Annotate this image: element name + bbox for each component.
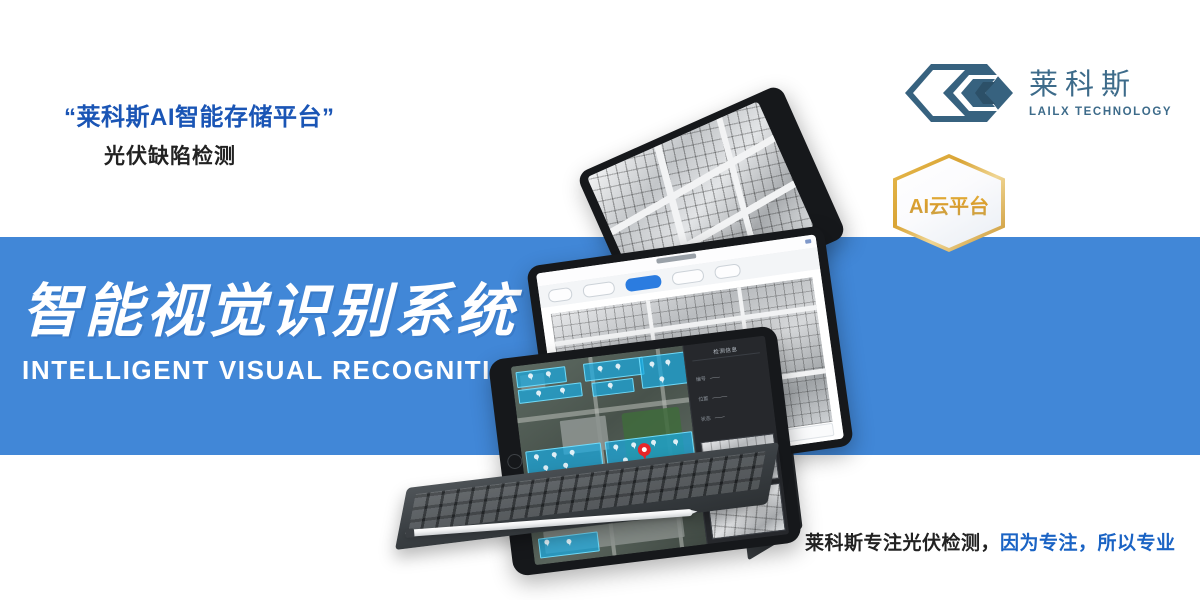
map-marker bbox=[528, 373, 534, 381]
map-marker bbox=[560, 387, 566, 395]
sidebar-row: 位置 ——— bbox=[698, 388, 764, 403]
sidebar-row-value: —— bbox=[714, 414, 725, 421]
map-marker bbox=[665, 359, 671, 367]
map-marker bbox=[615, 363, 621, 371]
sidebar-row: 编号 —— bbox=[696, 368, 762, 383]
map-marker bbox=[631, 442, 637, 450]
brand-text: 莱科斯 LAILX TECHNOLOGY bbox=[1029, 68, 1172, 118]
tagline-part-blue: 因为专注，所以专业 bbox=[1000, 533, 1176, 554]
map-marker bbox=[649, 361, 655, 369]
map-marker bbox=[546, 371, 552, 379]
map-marker bbox=[597, 366, 603, 374]
map-marker bbox=[607, 382, 613, 390]
sidebar-row-key: 编号 bbox=[696, 375, 707, 383]
toolbar-button-5[interactable] bbox=[714, 263, 742, 279]
sidebar-row-value: —— bbox=[710, 374, 721, 381]
sidebar-row-key: 位置 bbox=[698, 395, 709, 403]
map-marker bbox=[659, 376, 665, 384]
brand-name-cn: 莱科斯 bbox=[1029, 70, 1137, 100]
map-marker bbox=[566, 539, 572, 547]
sidebar-row: 状态 —— bbox=[700, 408, 766, 423]
toolbar-button-1[interactable] bbox=[547, 286, 573, 302]
map-marker bbox=[569, 450, 575, 458]
toolbar-button-4[interactable] bbox=[671, 268, 704, 285]
brand-name-en: LAILX TECHNOLOGY bbox=[1029, 106, 1172, 118]
map-marker bbox=[534, 454, 540, 462]
headline-block: “莱科斯AI智能存储平台” 光伏缺陷检测 bbox=[64, 104, 404, 170]
ai-cloud-platform-badge: AI云平台 bbox=[893, 154, 1005, 252]
headline-subtitle: 光伏缺陷检测 bbox=[104, 140, 404, 170]
map-marker bbox=[544, 539, 550, 547]
map-marker bbox=[651, 440, 657, 448]
ai-badge-label: AI云平台 bbox=[893, 190, 1005, 219]
app-title-placeholder bbox=[656, 253, 696, 264]
status-indicator bbox=[805, 239, 811, 244]
headline-quote: “莱科斯AI智能存储平台” bbox=[64, 104, 404, 132]
brand-logo: 莱科斯 LAILX TECHNOLOGY bbox=[903, 62, 1172, 124]
stylus-cap bbox=[405, 528, 415, 538]
toolbar-button-2[interactable] bbox=[582, 280, 615, 297]
device-cluster: 检测信息 编号 —— 位置 ——— 状态 —— bbox=[395, 110, 895, 570]
map-marker bbox=[536, 390, 542, 398]
toolbar-button-3-active[interactable] bbox=[625, 274, 662, 292]
map-marker bbox=[673, 439, 679, 447]
map-marker bbox=[613, 444, 619, 452]
hexagon-chevron-logo-icon bbox=[903, 62, 1015, 124]
stylus-tip bbox=[691, 510, 697, 514]
sidebar-row-value: ——— bbox=[712, 394, 728, 402]
map-marker bbox=[551, 452, 557, 460]
sidebar-row-key: 状态 bbox=[700, 415, 711, 423]
banner-root: “莱科斯AI智能存储平台” 光伏缺陷检测 莱科斯 LAILX TECHNOLOG… bbox=[0, 0, 1200, 600]
